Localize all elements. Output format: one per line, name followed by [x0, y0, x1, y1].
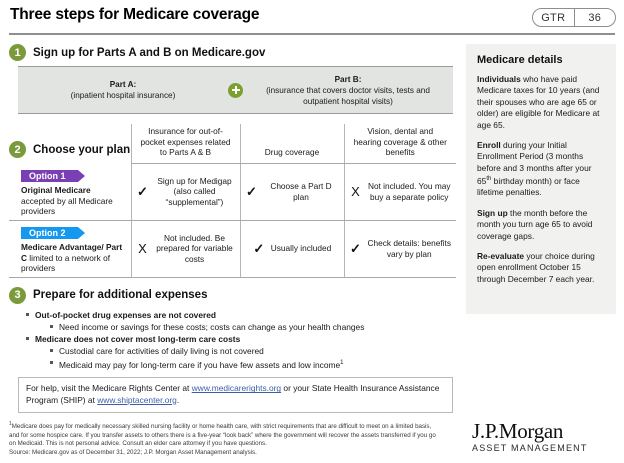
medicare-details-sidebar: Medicare details Individuals who have pa… [466, 44, 616, 314]
column-header-text: Insurance for out-of-pocket expenses rel… [132, 126, 240, 158]
footnote-reference: 1 [340, 360, 343, 366]
list-item-text: Medicaid may pay for long-term care if y… [59, 359, 340, 369]
cell-text: Usually included [271, 243, 331, 253]
sidebar-paragraph-lead: Sign up [477, 208, 508, 218]
part-b-name: Part B: [249, 74, 447, 85]
sidebar-paragraph-lead: Individuals [477, 74, 521, 84]
list-item: Medicaid may pay for long-term care if y… [9, 357, 456, 371]
cell-text: Choose a Part D plan [264, 181, 339, 202]
step-3-header: 3 Prepare for additional expenses [9, 287, 456, 304]
option-1-description-bold: Original Medicare [21, 185, 91, 195]
option-2-description-rest: limited to a network of providers [21, 253, 110, 274]
main-content: 1 Sign up for Parts A and B on Medicare.… [9, 44, 456, 413]
option-2-badge: Option 2 [21, 227, 78, 239]
header-divider [9, 33, 615, 35]
shiptacenter-link[interactable]: www.shiptacenter.org [97, 395, 177, 405]
option-2-description: Medicare Advantage/ Part C limited to a … [9, 242, 131, 274]
table-row: Option 1 Original Medicare accepted by a… [9, 163, 456, 220]
sidebar-paragraph-lead: Re-evaluate [477, 251, 524, 261]
sidebar-paragraph-lead: Enroll [477, 140, 501, 150]
gtr-badge: GTR 36 [532, 8, 616, 27]
help-text-3: . [177, 395, 179, 405]
jpmorgan-logo: J.P.Morgan ASSET MANAGEMENT [472, 420, 612, 453]
table-row: Option 2 Medicare Advantage/ Part C limi… [9, 220, 456, 277]
step-3-title: Prepare for additional expenses [33, 289, 207, 301]
help-box: For help, visit the Medicare Rights Cent… [18, 377, 453, 413]
part-a-name: Part A: [24, 79, 222, 90]
sidebar-paragraph-enroll: Enroll during your Initial Enrollment Pe… [477, 140, 605, 199]
option-2-other-benefits-cell: ✓ Check details: benefits vary by plan [344, 220, 456, 277]
option-2-drug-coverage-cell: ✓ Usually included [240, 220, 344, 277]
step-2-header-cell: 2 Choose your plan [9, 124, 131, 163]
sidebar-paragraph-reevaluate: Re-evaluate your choice during open enro… [477, 251, 605, 285]
medicare-parts-band: Part A: (inpatient hospital insurance) P… [18, 66, 453, 114]
option-1-drug-coverage-cell: ✓ Choose a Part D plan [240, 163, 344, 220]
sidebar-title: Medicare details [477, 54, 605, 66]
check-icon: ✓ [137, 185, 149, 198]
sidebar-paragraph-signup: Sign up the month before the month you t… [477, 208, 605, 242]
help-text-1: For help, visit the Medicare Rights Cent… [26, 383, 192, 393]
part-a-description: (inpatient hospital insurance) [71, 91, 176, 100]
footnote-text: Medicare does pay for medically necessar… [9, 423, 436, 447]
option-1-badge-wrap: Option 1 [9, 166, 131, 185]
list-item: Custodial care for activities of daily l… [9, 345, 456, 357]
list-item: Medicare does not cover most long-term c… [9, 333, 456, 345]
option-2-label-cell: Option 2 Medicare Advantage/ Part C limi… [9, 220, 131, 277]
step-3-number: 3 [9, 287, 26, 304]
column-header-text: Vision, dental and hearing coverage & ot… [345, 126, 457, 158]
column-header-drug-coverage: Drug coverage [240, 124, 344, 163]
step-1-section: 1 Sign up for Parts A and B on Medicare.… [9, 44, 456, 114]
list-item: Need income or savings for these costs; … [9, 321, 456, 333]
step-2-number: 2 [9, 141, 26, 158]
logo-tagline: ASSET MANAGEMENT [472, 443, 612, 453]
expenses-bullet-list: Out-of-pocket drug expenses are not cove… [9, 309, 456, 371]
column-header-out-of-pocket: Insurance for out-of-pocket expenses rel… [131, 124, 240, 163]
table-header-row: 2 Choose your plan Insurance for out-of-… [9, 124, 456, 163]
check-icon: ✓ [246, 185, 258, 198]
column-header-text: Drug coverage [241, 147, 344, 158]
step-2-title: Choose your plan [33, 144, 130, 156]
medicare-rights-link[interactable]: www.medicarerights.org [192, 383, 281, 393]
step-3-section: 3 Prepare for additional expenses Out-of… [9, 287, 456, 371]
page-title: Three steps for Medicare coverage [10, 6, 259, 24]
check-icon: ✓ [253, 242, 265, 255]
part-b-description: (insurance that covers doctor visits, te… [266, 86, 430, 106]
footnote-source: Source: Medicare.gov as of December 31, … [9, 449, 439, 457]
list-item: Out-of-pocket drug expenses are not cove… [9, 309, 456, 321]
option-2-out-of-pocket-cell: X Not included. Be prepared for variable… [131, 220, 240, 277]
cell-text: Check details: benefits vary by plan [368, 238, 452, 259]
step-1-number: 1 [9, 44, 26, 61]
x-icon: X [137, 242, 149, 255]
sidebar-paragraph-individuals: Individuals who have paid Medicare taxes… [477, 74, 605, 131]
step-2-section: 2 Choose your plan Insurance for out-of-… [9, 124, 456, 278]
step-1-title: Sign up for Parts A and B on Medicare.go… [33, 47, 265, 59]
x-icon: X [350, 185, 362, 198]
option-1-description: Original Medicare accepted by all Medica… [9, 185, 131, 217]
plus-icon [228, 83, 243, 98]
cell-text: Not included. Be prepared for variable c… [155, 233, 235, 264]
option-1-label-cell: Option 1 Original Medicare accepted by a… [9, 163, 131, 220]
option-1-badge: Option 1 [21, 170, 78, 182]
option-2-badge-wrap: Option 2 [9, 223, 131, 242]
slide-page: Three steps for Medicare coverage GTR 36… [0, 0, 624, 463]
cell-text: Not included. You may buy a separate pol… [368, 181, 452, 202]
part-b-cell: Part B: (insurance that covers doctor vi… [243, 74, 453, 107]
logo-wordmark: J.P.Morgan [472, 420, 612, 442]
footnote-block: 1Medicare does pay for medically necessa… [9, 420, 439, 457]
sidebar-paragraph-body-b: birthday month) or face lifetime penalti… [477, 176, 580, 197]
gtr-badge-label: GTR [533, 9, 574, 26]
option-1-out-of-pocket-cell: ✓ Sign up for Medigap (also called “supp… [131, 163, 240, 220]
option-1-other-benefits-cell: X Not included. You may buy a separate p… [344, 163, 456, 220]
gtr-badge-number: 36 [574, 9, 616, 26]
step-1-header: 1 Sign up for Parts A and B on Medicare.… [9, 44, 456, 61]
column-header-other-benefits: Vision, dental and hearing coverage & ot… [344, 124, 456, 163]
cell-text: Sign up for Medigap (also called “supple… [155, 176, 235, 207]
part-a-cell: Part A: (inpatient hospital insurance) [18, 79, 228, 101]
page-header: Three steps for Medicare coverage GTR 36 [0, 0, 624, 38]
plan-comparison-table: 2 Choose your plan Insurance for out-of-… [9, 124, 456, 278]
check-icon: ✓ [350, 242, 362, 255]
option-1-description-rest: accepted by all Medicare providers [21, 196, 113, 217]
